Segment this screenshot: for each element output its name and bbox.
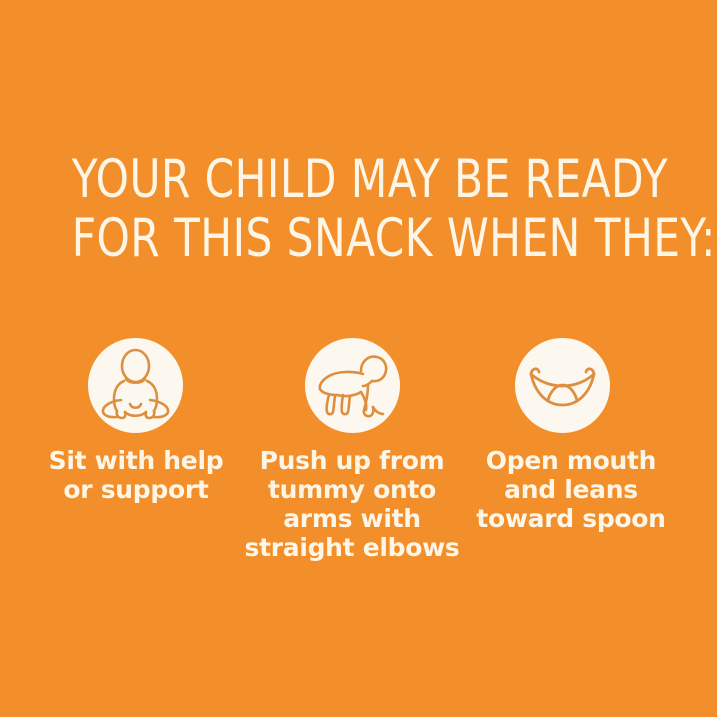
baby-sitting-icon [88, 338, 183, 433]
icon-row [0, 338, 717, 434]
caption-line: Open mouth [460, 446, 682, 475]
readiness-poster: YOUR CHILD MAY BE READY FOR THIS SNACK W… [0, 0, 717, 717]
caption-line: Push up from [241, 446, 463, 475]
caption-line: and leans [460, 475, 682, 504]
caption-row: Sit with help or support Push up from tu… [0, 446, 717, 576]
headline-line-1: YOUR CHILD MAY BE READY [72, 150, 646, 209]
readiness-item-1-caption: Sit with help or support [26, 446, 246, 504]
readiness-item-2-icon-slot [305, 338, 400, 433]
readiness-item-3-caption: Open mouth and leans toward spoon [460, 446, 682, 533]
headline-line-2: FOR THIS SNACK WHEN THEY: [72, 209, 646, 268]
caption-line: straight elbows [241, 533, 463, 562]
page-title: YOUR CHILD MAY BE READY FOR THIS SNACK W… [72, 150, 646, 268]
readiness-item-3-icon-slot [515, 338, 610, 433]
caption-line: tummy onto [241, 475, 463, 504]
open-mouth-icon [515, 338, 610, 433]
caption-line: or support [26, 475, 246, 504]
baby-tummy-time-icon [305, 338, 400, 433]
caption-line: arms with [241, 504, 463, 533]
caption-line: Sit with help [26, 446, 246, 475]
readiness-item-1-icon-slot [88, 338, 183, 433]
caption-line: toward spoon [460, 504, 682, 533]
readiness-item-2-caption: Push up from tummy onto arms with straig… [241, 446, 463, 562]
